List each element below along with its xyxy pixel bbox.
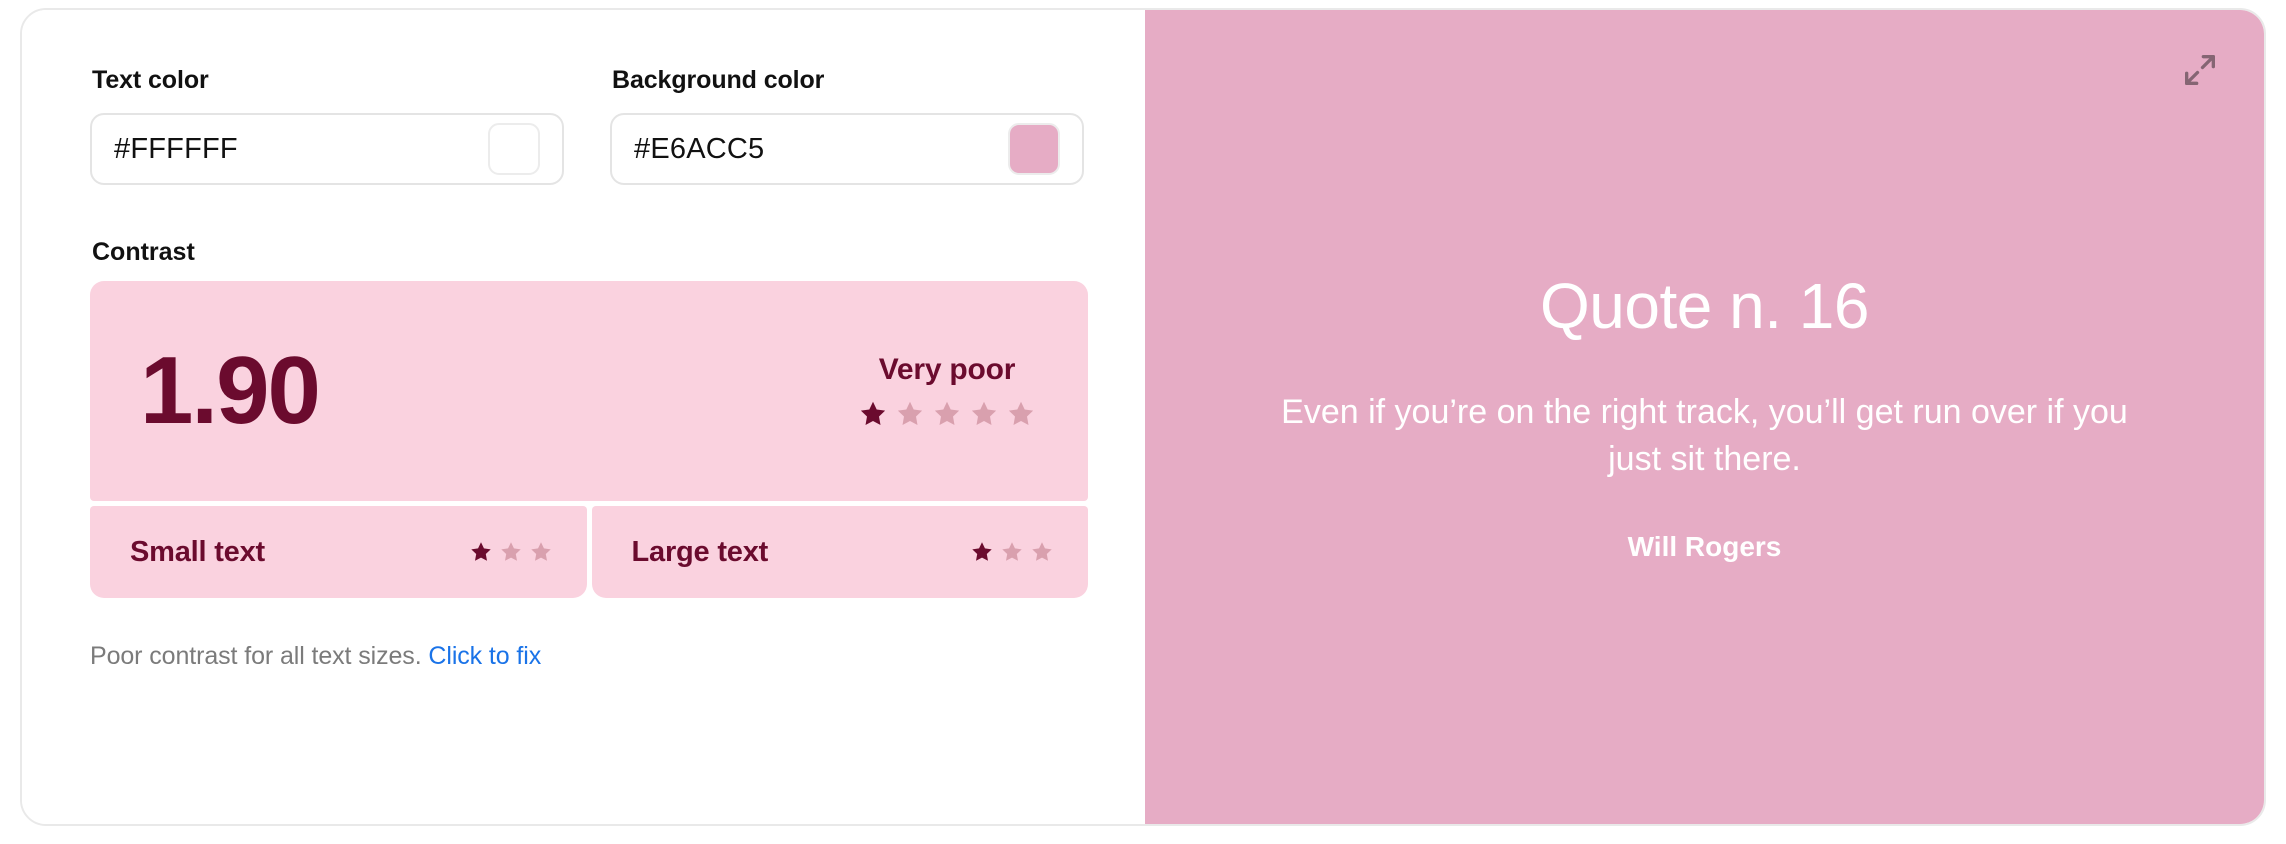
quote-body: Even if you’re on the right track, you’l… (1260, 389, 2150, 483)
contrast-results: 1.90 Very poor Small text Large text (90, 281, 1088, 598)
text-color-label: Text color (92, 66, 564, 95)
background-color-input[interactable]: #E6ACC5 (610, 113, 1084, 185)
star-icon (932, 399, 962, 429)
small-text-result-panel: Small text (90, 506, 587, 598)
star-icon (969, 399, 999, 429)
large-text-stars (970, 540, 1054, 564)
small-text-label: Small text (130, 536, 265, 569)
text-size-results-row: Small text Large text (90, 506, 1088, 598)
contrast-checker-card: Text color #FFFFFF Background color #E6A… (20, 8, 2266, 826)
text-color-swatch[interactable] (488, 123, 540, 175)
background-color-field-group: Background color #E6ACC5 (610, 66, 1084, 185)
contrast-footnote: Poor contrast for all text sizes. Click … (90, 642, 1145, 671)
contrast-score-panel: 1.90 Very poor (90, 281, 1088, 501)
expand-arrows-icon[interactable] (2180, 50, 2220, 90)
text-color-field-group: Text color #FFFFFF (90, 66, 564, 185)
quote-author: Will Rogers (1628, 531, 1782, 563)
star-icon (1000, 540, 1024, 564)
star-icon (1006, 399, 1036, 429)
screenshot-root: Text color #FFFFFF Background color #E6A… (0, 0, 2286, 844)
star-icon (895, 399, 925, 429)
contrast-rating-group: Very poor (858, 353, 1044, 429)
large-text-label: Large text (632, 536, 769, 569)
quote-preview-pane: Quote n. 16 Even if you’re on the right … (1145, 10, 2264, 824)
text-color-input[interactable]: #FFFFFF (90, 113, 564, 185)
contrast-section-label: Contrast (92, 238, 1145, 267)
color-fields-row: Text color #FFFFFF Background color #E6A… (90, 66, 1145, 185)
quote-title: Quote n. 16 (1540, 271, 1869, 341)
footnote-text: Poor contrast for all text sizes. (90, 642, 422, 670)
star-icon (469, 540, 493, 564)
background-color-swatch[interactable] (1008, 123, 1060, 175)
background-color-value[interactable]: #E6ACC5 (634, 133, 1008, 166)
click-to-fix-link[interactable]: Click to fix (428, 642, 541, 670)
star-icon (499, 540, 523, 564)
star-icon (529, 540, 553, 564)
background-color-label: Background color (612, 66, 1084, 95)
text-color-value[interactable]: #FFFFFF (114, 133, 488, 166)
contrast-rating-label: Very poor (879, 353, 1016, 387)
star-icon (858, 399, 888, 429)
large-text-result-panel: Large text (592, 506, 1089, 598)
contrast-score-value: 1.90 (140, 343, 319, 439)
controls-pane: Text color #FFFFFF Background color #E6A… (22, 10, 1145, 824)
star-icon (1030, 540, 1054, 564)
small-text-stars (469, 540, 553, 564)
rating-stars (858, 399, 1036, 429)
star-icon (970, 540, 994, 564)
